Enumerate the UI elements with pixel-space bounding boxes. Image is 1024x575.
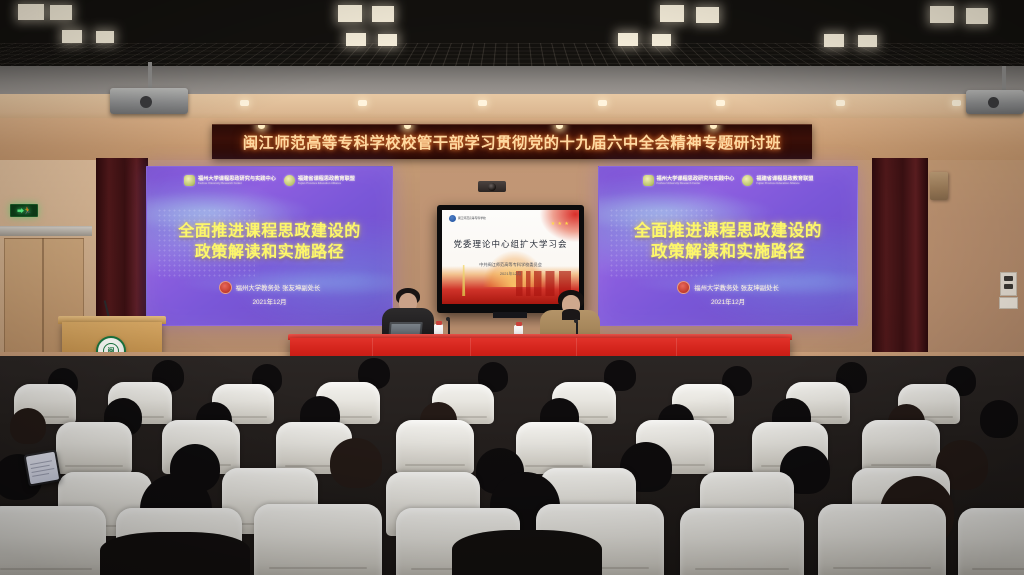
audience-head <box>330 438 382 488</box>
audience-chair <box>56 422 132 474</box>
screen-footer-speaker-row: 福州大学教务处 张友坤副处长 <box>599 281 857 294</box>
ceiling-panel-light <box>338 5 362 22</box>
table-microphone-head <box>574 319 578 323</box>
screen-logo-1-subtitle: Fuzhou University Research Center <box>657 182 735 185</box>
flag-stars-icon: ★ ★ ★ <box>551 221 570 227</box>
audience-area <box>0 356 1024 575</box>
screen-footer-speaker-row: 福州大学教务处 张友坤副处长 <box>147 281 392 294</box>
audience-chair <box>254 504 382 575</box>
monitor-logo: 闽江师范高等专科学校 <box>449 215 486 222</box>
screen-title-line1: 全面推进课程思政建设的 <box>147 221 392 242</box>
screen-logo-2-label: 福建省课程思政教育联盟 Fujian Province Education Al… <box>756 176 813 186</box>
screen-title: 全面推进课程思政建设的 政策解读和实施路径 <box>599 221 857 265</box>
university-center-logo-icon <box>184 175 195 186</box>
audience-chair <box>818 504 946 575</box>
ceiling-panel-light <box>660 5 684 22</box>
ceiling-panel-light <box>824 34 844 47</box>
monitor-date: 2021年12月 <box>442 271 579 277</box>
screen-logo-row: 福州大学课程思政研究与实践中心 Fuzhou University Resear… <box>147 175 392 186</box>
screen-logo-2: 福建省课程思政教育联盟 Fujian Province Education Al… <box>284 175 355 186</box>
banner-bulb <box>258 124 265 129</box>
light-switch-button[interactable] <box>1004 276 1013 281</box>
ceiling-panel-light <box>966 8 988 24</box>
audience-head <box>10 408 46 444</box>
university-seal-icon <box>677 281 690 294</box>
ceiling-panel-light <box>378 34 397 46</box>
left-wall-rail <box>0 226 92 236</box>
camera-lens-icon <box>488 183 496 191</box>
conference-hall-photo: ⮕🏃 闽江师范高等专科学校校管干部学习贯彻党的十九届六中全会精神专题研讨班 福州… <box>0 0 1024 575</box>
screen-logo-1-label: 福州大学课程思政研究与实践中心 Fuzhou University Resear… <box>657 176 735 186</box>
downlight <box>716 100 725 106</box>
left-door-split <box>42 238 44 356</box>
screen-logo-1-label: 福州大学课程思政研究与实践中心 Fuzhou University Resear… <box>198 176 276 186</box>
ceiling-panel-light <box>62 30 82 43</box>
screen-footer: 福州大学教务处 张友坤副处长 2021年12月 <box>599 281 857 306</box>
province-alliance-logo-icon <box>284 175 295 186</box>
banner-bulb <box>556 124 563 129</box>
ceiling-grid <box>0 0 1024 72</box>
screen-logo-1-subtitle: Fuzhou University Research Center <box>198 182 276 185</box>
event-banner: 闽江师范高等专科学校校管干部学习贯彻党的十九届六中全会精神专题研讨班 <box>212 124 812 159</box>
handheld-tablet[interactable] <box>23 449 61 486</box>
projector-left <box>110 88 188 114</box>
projector-lens-icon <box>988 97 999 108</box>
ceiling-panel-light <box>696 7 719 23</box>
downlight <box>952 100 961 106</box>
bottle-cap <box>516 322 522 326</box>
ceiling-panel-light <box>858 35 877 47</box>
screen-title: 全面推进课程思政建设的 政策解读和实施路径 <box>147 221 392 263</box>
projector-lens-icon <box>140 96 152 108</box>
downlight <box>598 100 607 106</box>
screen-footer-speaker: 福州大学教务处 张友坤副处长 <box>236 283 321 292</box>
outlet-plate[interactable] <box>999 297 1018 309</box>
ceiling-panel-light <box>372 6 394 22</box>
screen-logo-1-name: 福州大学课程思政研究与实践中心 <box>657 176 735 182</box>
screen-title-line2: 政策解读和实施路径 <box>599 242 857 264</box>
screen-logo-1: 福州大学课程思政研究与实践中心 Fuzhou University Resear… <box>184 175 276 186</box>
screen-title-line2: 政策解读和实施路径 <box>147 242 392 263</box>
tablet-text-line <box>32 473 49 477</box>
banner-bulb <box>710 124 717 129</box>
screen-title-line1: 全面推进课程思政建设的 <box>599 221 857 243</box>
audience-chair <box>516 422 592 474</box>
projector-right <box>966 90 1024 114</box>
projector-mount-pole-right <box>1002 66 1006 92</box>
screen-footer-speaker: 福州大学教务处 张友坤副处长 <box>694 283 779 292</box>
banner-bulb <box>404 124 411 129</box>
audience-chair <box>958 508 1024 575</box>
projector-mount-pole-left <box>148 62 152 90</box>
screen-footer-date: 2021年12月 <box>599 297 857 306</box>
light-switch-plate[interactable] <box>1000 272 1017 296</box>
downlight <box>478 100 487 106</box>
province-alliance-logo-icon <box>742 175 753 186</box>
monitor-stand <box>493 312 527 318</box>
ceiling-panel-light <box>930 6 954 23</box>
ceiling-panel-light <box>18 4 44 20</box>
audience-chair <box>862 420 940 474</box>
tablet-text-line <box>32 468 55 473</box>
light-switch-button[interactable] <box>1004 284 1013 289</box>
ceiling-panel-light <box>346 33 366 46</box>
screen-logo-2-name: 福建省课程思政教育联盟 <box>756 176 813 182</box>
table-microphone-head <box>446 317 450 321</box>
monitor-logo-text: 闽江师范高等专科学校 <box>458 216 486 220</box>
audience-chair <box>396 420 474 474</box>
university-seal-icon <box>219 281 232 294</box>
monitor-title: 党委理论中心组扩大学习会 <box>442 238 579 250</box>
screen-logo-2: 福建省课程思政教育联盟 Fujian Province Education Al… <box>742 175 813 186</box>
ceiling-panel-light <box>96 31 114 43</box>
screen-footer: 福州大学教务处 张友坤副处长 2021年12月 <box>147 281 392 306</box>
person-collar <box>562 309 580 320</box>
monitor-subtitle: 中共闽江师范高等专科学校委员会 <box>442 262 579 268</box>
right-projection-screen: 福州大学课程思政研究与实践中心 Fuzhou University Resear… <box>598 166 858 326</box>
wall-camera <box>478 178 506 194</box>
audience-shoulders <box>100 532 250 575</box>
audience-shoulders <box>452 530 602 575</box>
screen-logo-1-name: 福州大学课程思政研究与实践中心 <box>198 176 276 182</box>
screen-logo-2-subtitle: Fujian Province Education Alliance <box>298 182 355 185</box>
screen-logo-row: 福州大学课程思政研究与实践中心 Fuzhou University Resear… <box>599 175 857 186</box>
audience-chair <box>680 508 804 575</box>
exit-running-man-icon: ⮕🏃 <box>17 206 31 216</box>
audience-chair <box>0 506 106 575</box>
tablet-screen <box>26 452 59 485</box>
audience-head <box>980 400 1018 438</box>
screen-logo-2-label: 福建省课程思政教育联盟 Fujian Province Education Al… <box>298 176 355 186</box>
screen-logo-2-name: 福建省课程思政教育联盟 <box>298 176 355 182</box>
school-logo-icon <box>449 215 456 222</box>
downlight <box>836 100 845 106</box>
screen-logo-2-subtitle: Fujian Province Education Alliance <box>756 182 813 185</box>
wall-speaker <box>930 172 948 200</box>
event-banner-text: 闽江师范高等专科学校校管干部学习贯彻党的十九届六中全会精神专题研讨班 <box>243 131 782 153</box>
ceiling-panel-light <box>652 34 671 46</box>
ceiling-panel-light <box>50 5 72 20</box>
ceiling-panel-light <box>618 33 638 46</box>
university-center-logo-icon <box>643 175 654 186</box>
left-projection-screen: 福州大学课程思政研究与实践中心 Fuzhou University Resear… <box>146 166 393 326</box>
screen-footer-date: 2021年12月 <box>147 297 392 306</box>
downlight <box>240 100 249 106</box>
downlight <box>358 100 367 106</box>
screen-logo-1: 福州大学课程思政研究与实践中心 Fuzhou University Resear… <box>643 175 735 186</box>
stage-curtain-right <box>872 158 928 368</box>
exit-sign: ⮕🏃 <box>10 204 38 217</box>
bottle-cap <box>436 321 442 325</box>
